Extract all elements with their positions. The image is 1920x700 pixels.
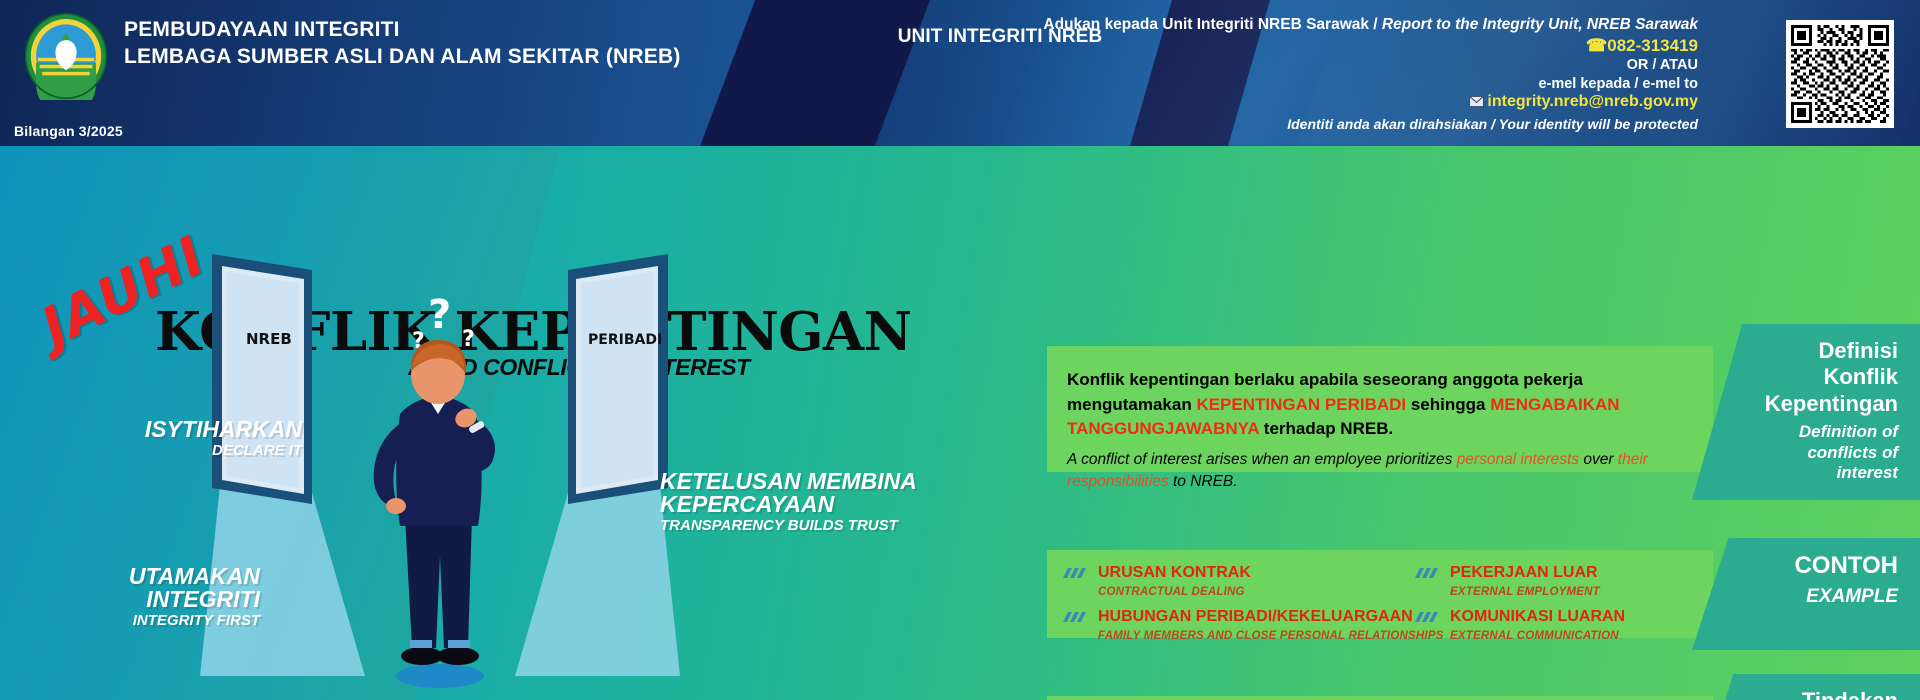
def-my-part3: terhadap NREB. bbox=[1259, 419, 1393, 438]
label-integrity-first: UTAMAKAN INTEGRITI INTEGRITY FIRST bbox=[30, 565, 260, 628]
example-column-left: URUSAN KONTRAK CONTRACTUAL DEALING HUBUN… bbox=[1063, 564, 1393, 652]
example-text: HUBUNGAN PERIBADI/KEKELUARGAAN FAMILY ME… bbox=[1098, 608, 1443, 644]
definition-card: Konflik kepentingan berlaku apabila sese… bbox=[1047, 346, 1713, 472]
example-column-right: PEKERJAAN LUAR EXTERNAL EMPLOYMENT KOMUN… bbox=[1415, 564, 1703, 652]
contact-phone[interactable]: ☎082-313419 bbox=[998, 36, 1698, 56]
report-line: Adukan kepada Unit Integriti NREB Sarawa… bbox=[998, 16, 1698, 34]
example-en-2: EXTERNAL EMPLOYMENT bbox=[1450, 586, 1600, 598]
issue-number: Bilangan 3/2025 bbox=[14, 123, 123, 139]
def-en-part3: to NREB. bbox=[1169, 473, 1238, 490]
or-label: OR / ATAU bbox=[998, 57, 1698, 73]
phone-icon: ☎ bbox=[1586, 36, 1607, 55]
label-declare-it: ISYTIHARKAN DECLARE IT bbox=[92, 418, 302, 458]
action-tab-my: Tindakan bbox=[1756, 688, 1898, 700]
chevrons-icon bbox=[1063, 611, 1089, 629]
report-label-en: Report to the Integrity Unit, NREB Saraw… bbox=[1382, 16, 1698, 33]
example-tab-my: CONTOH bbox=[1756, 552, 1898, 581]
report-label-my: Adukan kepada Unit Integriti NREB Sarawa… bbox=[1043, 16, 1369, 33]
example-my-3: KOMUNIKASI LUARAN bbox=[1450, 608, 1625, 625]
header-org-title: PEMBUDAYAAN INTEGRITI LEMBAGA SUMBER ASL… bbox=[124, 16, 681, 71]
definition-text-en: A conflict of interest arises when an em… bbox=[1067, 449, 1687, 492]
example-en-3: EXTERNAL COMMUNICATION bbox=[1450, 630, 1619, 642]
email-label: e-mel kepada / e-mel to bbox=[998, 76, 1698, 92]
envelope-icon bbox=[1469, 94, 1484, 112]
def-tab-my-l3: Kepentingan bbox=[1756, 391, 1898, 417]
infographic-poster: PEMBUDAYAAN INTEGRITI LEMBAGA SUMBER ASL… bbox=[0, 0, 1920, 700]
svg-text:?: ? bbox=[428, 292, 451, 338]
definition-tab-my: Definisi Konflik Kepentingan bbox=[1756, 338, 1898, 417]
example-tab: CONTOH EXAMPLE bbox=[1692, 538, 1920, 650]
action-card: Laporkan sebarang kemungkinan konflik ke… bbox=[1047, 696, 1713, 700]
def-my-part2: sehingga bbox=[1406, 395, 1490, 414]
def-en-part2: over bbox=[1579, 451, 1618, 468]
def-tab-en-l1: Definition of bbox=[1756, 422, 1898, 442]
door-right-text: PERIBADI bbox=[588, 332, 662, 348]
def-en-part1: A conflict of interest arises when an em… bbox=[1067, 451, 1457, 468]
label-trust-en: TRANSPARENCY BUILDS TRUST bbox=[660, 518, 940, 533]
definition-tab-en: Definition of conflicts of interest bbox=[1756, 422, 1898, 483]
def-en-red1: personal interests bbox=[1457, 451, 1579, 468]
label-declare-my: ISYTIHARKAN bbox=[92, 418, 302, 441]
definition-tab: Definisi Konflik Kepentingan Definition … bbox=[1692, 324, 1920, 500]
example-en-0: CONTRACTUAL DEALING bbox=[1098, 586, 1245, 598]
example-card: URUSAN KONTRAK CONTRACTUAL DEALING HUBUN… bbox=[1047, 550, 1713, 638]
org-title-line2: LEMBAGA SUMBER ASLI DAN ALAM SEKITAR (NR… bbox=[124, 43, 681, 70]
example-my-1: HUBUNGAN PERIBADI/KEKELUARGAAN bbox=[1098, 608, 1413, 625]
two-doors-illustration: NREB PERIBADI ? ? ? bbox=[200, 236, 680, 696]
chevrons-icon bbox=[1415, 567, 1441, 585]
def-tab-my-l1: Definisi bbox=[1756, 338, 1898, 364]
door-left-text: NREB bbox=[246, 330, 292, 348]
list-item: PEKERJAAN LUAR EXTERNAL EMPLOYMENT bbox=[1415, 564, 1703, 600]
list-item: URUSAN KONTRAK CONTRACTUAL DEALING bbox=[1063, 564, 1393, 600]
example-tab-en: EXAMPLE bbox=[1756, 586, 1898, 609]
contact-email[interactable]: integrity.nreb@nreb.gov.my bbox=[998, 93, 1698, 112]
header-bar: PEMBUDAYAAN INTEGRITI LEMBAGA SUMBER ASL… bbox=[0, 0, 1920, 146]
svg-text:?: ? bbox=[462, 327, 475, 352]
org-title-line1: PEMBUDAYAAN INTEGRITI bbox=[124, 16, 681, 43]
example-my-0: URUSAN KONTRAK bbox=[1098, 564, 1251, 581]
qr-code-icon[interactable] bbox=[1786, 20, 1894, 128]
example-my-2: PEKERJAAN LUAR bbox=[1450, 564, 1598, 581]
def-tab-my-l2: Konflik bbox=[1756, 364, 1898, 390]
label-trust-my-line1: KETELUSAN MEMBINA bbox=[660, 470, 940, 493]
nreb-logo-icon bbox=[22, 12, 110, 100]
chevrons-icon bbox=[1063, 567, 1089, 585]
list-item: KOMUNIKASI LUARAN EXTERNAL COMMUNICATION bbox=[1415, 608, 1703, 644]
privacy-note: Identiti anda akan dirahsiakan / Your id… bbox=[998, 116, 1698, 132]
action-tab: Tindakan Action step bbox=[1692, 674, 1920, 700]
list-item: HUBUNGAN PERIBADI/KEKELUARGAAN FAMILY ME… bbox=[1063, 608, 1393, 644]
example-text: PEKERJAAN LUAR EXTERNAL EMPLOYMENT bbox=[1450, 564, 1703, 600]
label-declare-en: DECLARE IT bbox=[92, 443, 302, 458]
label-integrity-my: UTAMAKAN INTEGRITI bbox=[30, 565, 260, 611]
def-tab-en-l2: conflicts of bbox=[1756, 443, 1898, 463]
definition-text-my: Konflik kepentingan berlaku apabila sese… bbox=[1067, 368, 1687, 442]
def-tab-en-l3: interest bbox=[1756, 463, 1898, 483]
phone-number: 082-313419 bbox=[1607, 36, 1698, 55]
label-trust-my-line2: KEPERCAYAAN bbox=[660, 493, 940, 516]
def-my-red1: KEPENTINGAN PERIBADI bbox=[1196, 395, 1406, 414]
chevrons-icon bbox=[1415, 611, 1441, 629]
example-text: KOMUNIKASI LUARAN EXTERNAL COMMUNICATION bbox=[1450, 608, 1703, 644]
label-transparency: KETELUSAN MEMBINA KEPERCAYAAN TRANSPAREN… bbox=[660, 470, 940, 533]
example-en-1: FAMILY MEMBERS AND CLOSE PERSONAL RELATI… bbox=[1098, 630, 1443, 642]
example-grid: URUSAN KONTRAK CONTRACTUAL DEALING HUBUN… bbox=[1063, 564, 1703, 652]
label-integrity-en: INTEGRITY FIRST bbox=[30, 613, 260, 628]
report-separator: / bbox=[1369, 16, 1382, 33]
poster-body: JAUHI KONFLIK KEPENTINGAN AVOID CONFLICT… bbox=[0, 146, 1920, 700]
header-contact-block: Adukan kepada Unit Integriti NREB Sarawa… bbox=[998, 16, 1698, 132]
example-text: URUSAN KONTRAK CONTRACTUAL DEALING bbox=[1098, 564, 1393, 600]
email-address: integrity.nreb@nreb.gov.my bbox=[1487, 93, 1698, 110]
